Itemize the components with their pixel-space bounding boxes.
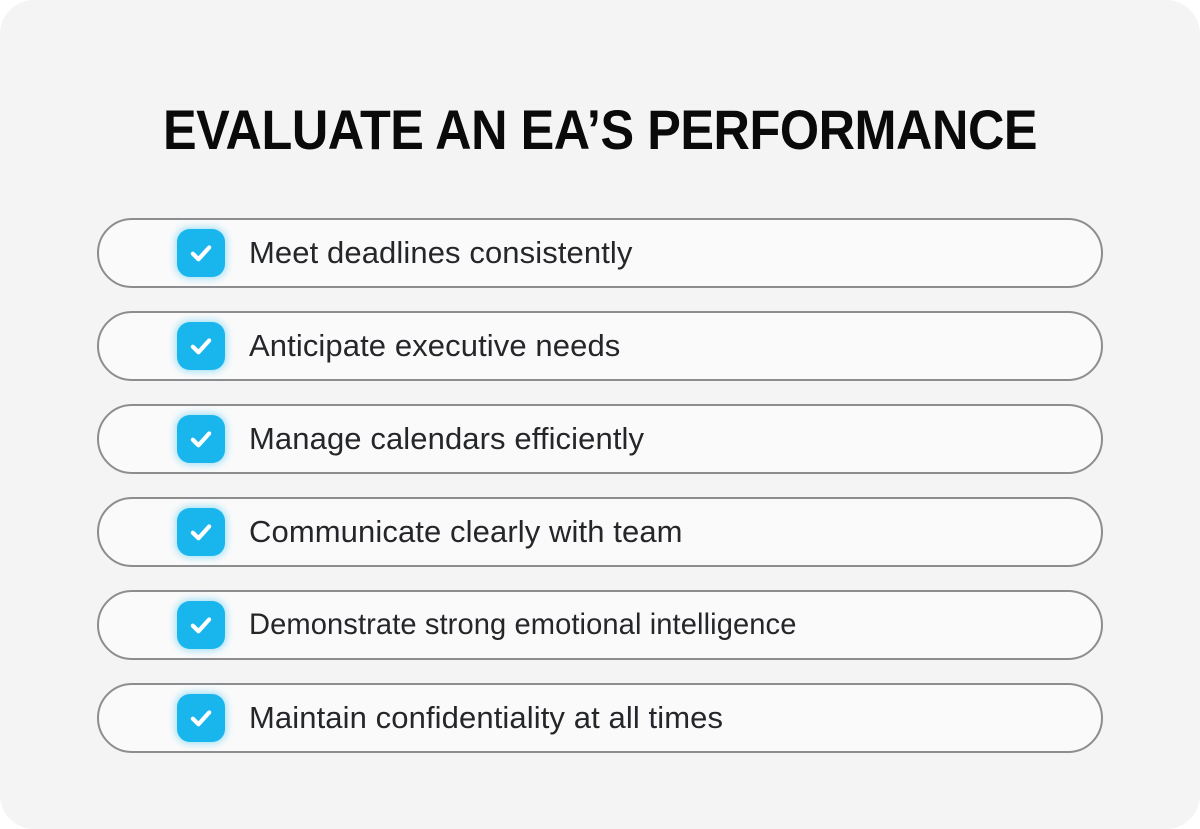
checklist-item[interactable]: Communicate clearly with team (97, 497, 1103, 567)
check-icon[interactable] (177, 694, 225, 742)
checklist-card: EVALUATE AN EA’S PERFORMANCE Meet deadli… (0, 0, 1200, 829)
checklist-item[interactable]: Anticipate executive needs (97, 311, 1103, 381)
check-icon[interactable] (177, 415, 225, 463)
check-icon[interactable] (177, 322, 225, 370)
checklist-item[interactable]: Demonstrate strong emotional intelligenc… (97, 590, 1103, 660)
checklist: Meet deadlines consistently Anticipate e… (97, 218, 1103, 753)
check-icon[interactable] (177, 508, 225, 556)
checklist-item-label: Maintain confidentiality at all times (249, 700, 1101, 736)
checklist-item[interactable]: Manage calendars efficiently (97, 404, 1103, 474)
checklist-item-label: Meet deadlines consistently (249, 235, 1101, 271)
check-icon[interactable] (177, 229, 225, 277)
page-title: EVALUATE AN EA’S PERFORMANCE (60, 97, 1140, 163)
checklist-item-label: Communicate clearly with team (249, 514, 1101, 550)
check-icon[interactable] (177, 601, 225, 649)
checklist-item-label: Manage calendars efficiently (249, 421, 1101, 457)
checklist-item-label: Anticipate executive needs (249, 328, 1101, 364)
checklist-item-label: Demonstrate strong emotional intelligenc… (249, 607, 1075, 643)
checklist-item[interactable]: Meet deadlines consistently (97, 218, 1103, 288)
checklist-item[interactable]: Maintain confidentiality at all times (97, 683, 1103, 753)
